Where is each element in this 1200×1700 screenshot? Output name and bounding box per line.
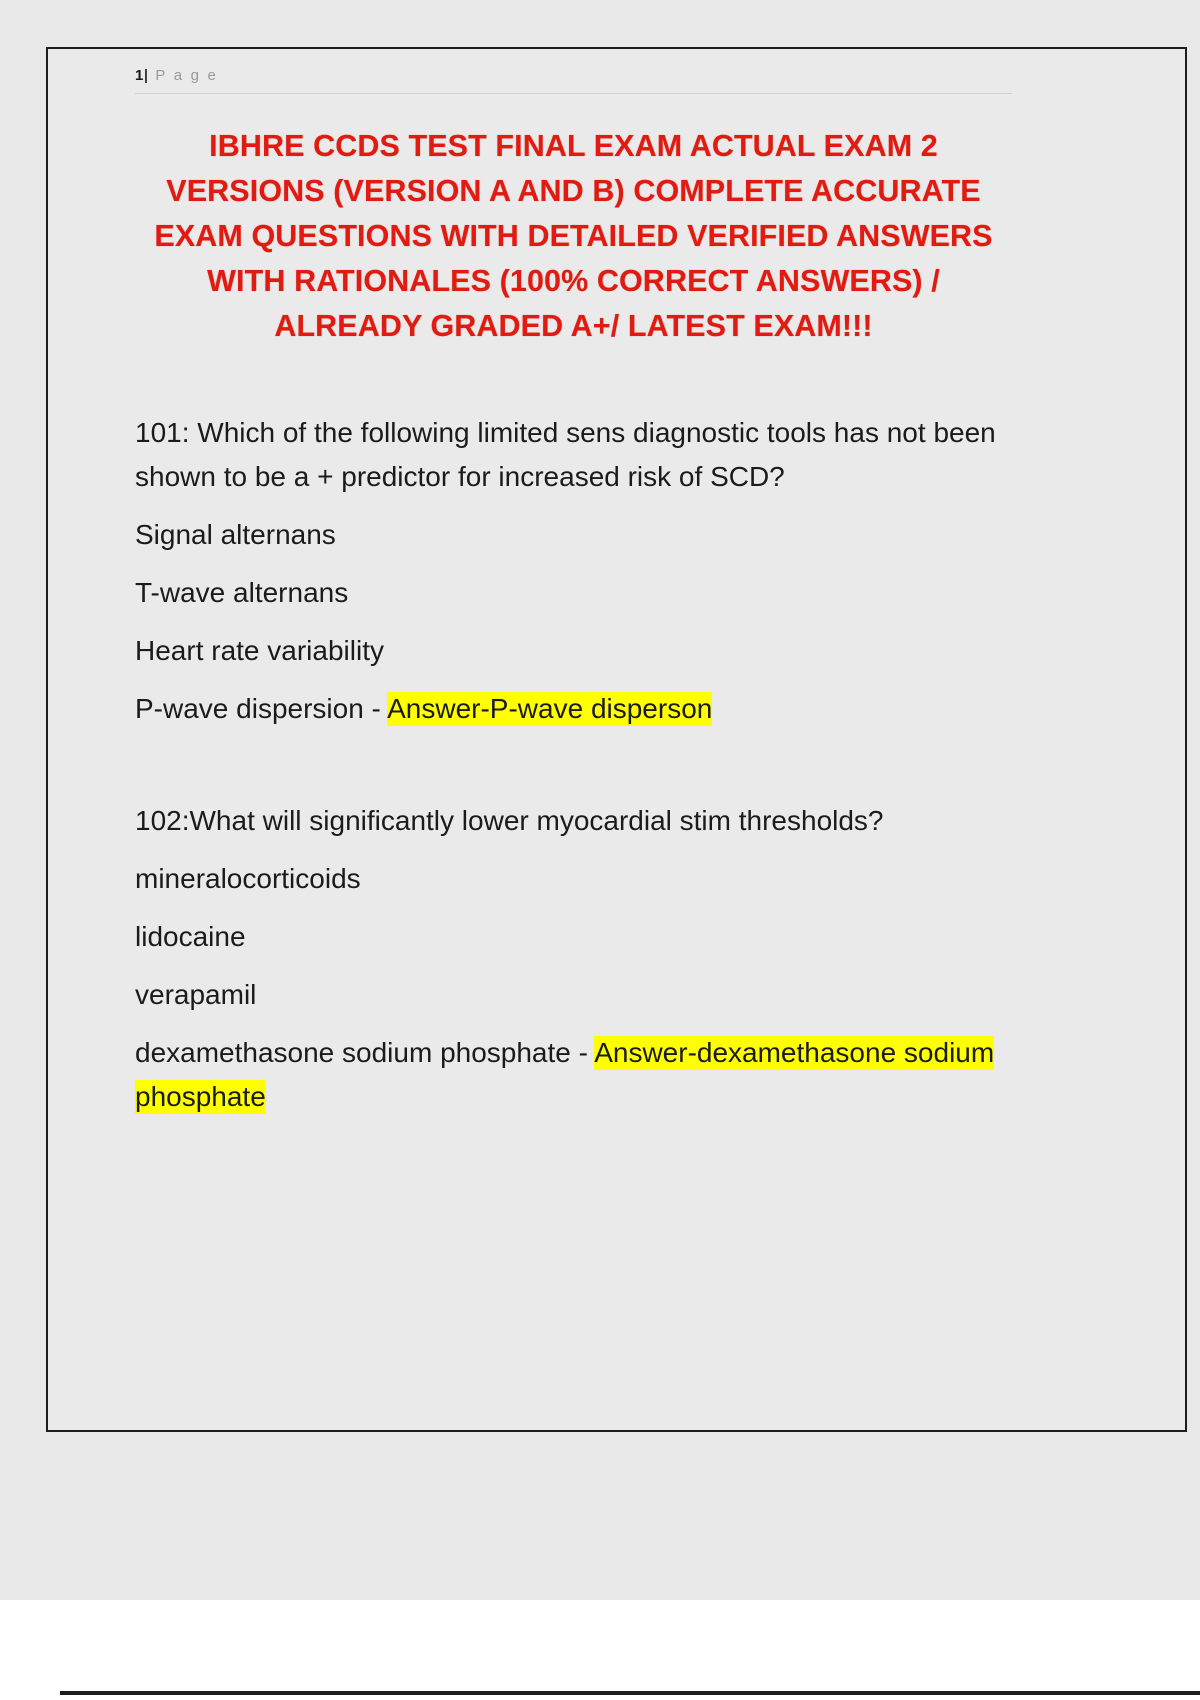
answer-option: mineralocorticoids [135, 857, 1012, 901]
answer-option-label: P-wave dispersion - [135, 693, 387, 724]
question-stem: 101: Which of the following limited sens… [135, 411, 1012, 499]
page-number: 1 [135, 67, 144, 84]
answer-option: T-wave alternans [135, 571, 1012, 615]
question-stem: 102:What will significantly lower myocar… [135, 799, 1012, 843]
answer-option: dexamethasone sodium phosphate - Answer-… [135, 1031, 1012, 1119]
answer-option-label: dexamethasone sodium phosphate - [135, 1037, 594, 1068]
answer-option: verapamil [135, 973, 1012, 1017]
answer-option: lidocaine [135, 915, 1012, 959]
page-content: 1| P a g e IBHRE CCDS TEST FINAL EXAM AC… [135, 67, 1012, 1119]
questions-body: 101: Which of the following limited sens… [135, 411, 1012, 1119]
page-bottom-rule [60, 1691, 1200, 1695]
page-header: 1| P a g e [135, 67, 1012, 94]
answer-highlight: Answer-P-wave disperson [387, 692, 712, 726]
page-header-separator: | [144, 67, 149, 84]
answer-option: P-wave dispersion - Answer-P-wave disper… [135, 687, 1012, 731]
document-title: IBHRE CCDS TEST FINAL EXAM ACTUAL EXAM 2… [135, 124, 1012, 349]
page-header-label: P a g e [155, 67, 218, 84]
answer-option: Signal alternans [135, 513, 1012, 557]
answer-option: Heart rate variability [135, 629, 1012, 673]
document-page: 1| P a g e IBHRE CCDS TEST FINAL EXAM AC… [46, 47, 1187, 1432]
question-spacer [135, 745, 1012, 799]
